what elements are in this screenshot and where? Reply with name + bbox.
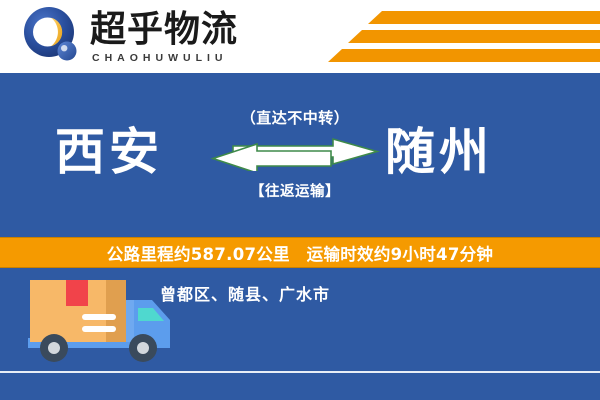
- stripe-1: [368, 11, 600, 24]
- logistics-route-banner: 超乎物流 CHAOHUWULIU 西安 （直达不中转） 【往返运输】: [0, 0, 600, 400]
- destination-city-label: 随州: [385, 123, 493, 181]
- route-info-text: 公路里程约587.07公里 运输时效约9小时47分钟: [107, 241, 493, 265]
- origin-city-label: 西安: [55, 123, 163, 181]
- direct-transport-note: （直达不中转）: [195, 109, 395, 127]
- brand-text-block: 超乎物流 CHAOHUWULIU: [90, 11, 238, 64]
- route-middle-block: （直达不中转） 【往返运输】: [195, 109, 395, 231]
- coverage-districts-label: 曾都区、随县、广水市: [160, 281, 330, 305]
- decorative-stripes: [300, 8, 600, 68]
- route-section: 西安 （直达不中转） 【往返运输】 随州: [0, 73, 600, 237]
- route-info-bar: 公路里程约587.07公里 运输时效约9小时47分钟: [0, 237, 600, 268]
- road-line: [0, 371, 600, 373]
- delivery-truck-icon: [22, 276, 172, 368]
- double-headed-arrow-icon: [205, 137, 385, 171]
- banner-header: 超乎物流 CHAOHUWULIU: [0, 0, 600, 73]
- roundtrip-transport-note: 【往返运输】: [195, 183, 395, 201]
- stripe-2: [348, 30, 600, 43]
- brand-name-cn: 超乎物流: [90, 11, 238, 49]
- circle-crescent-logo-icon: [22, 6, 84, 68]
- brand-logo-group[interactable]: 超乎物流 CHAOHUWULIU: [22, 6, 238, 68]
- stripe-3: [328, 49, 600, 62]
- brand-name-en: CHAOHUWULIU: [92, 52, 238, 64]
